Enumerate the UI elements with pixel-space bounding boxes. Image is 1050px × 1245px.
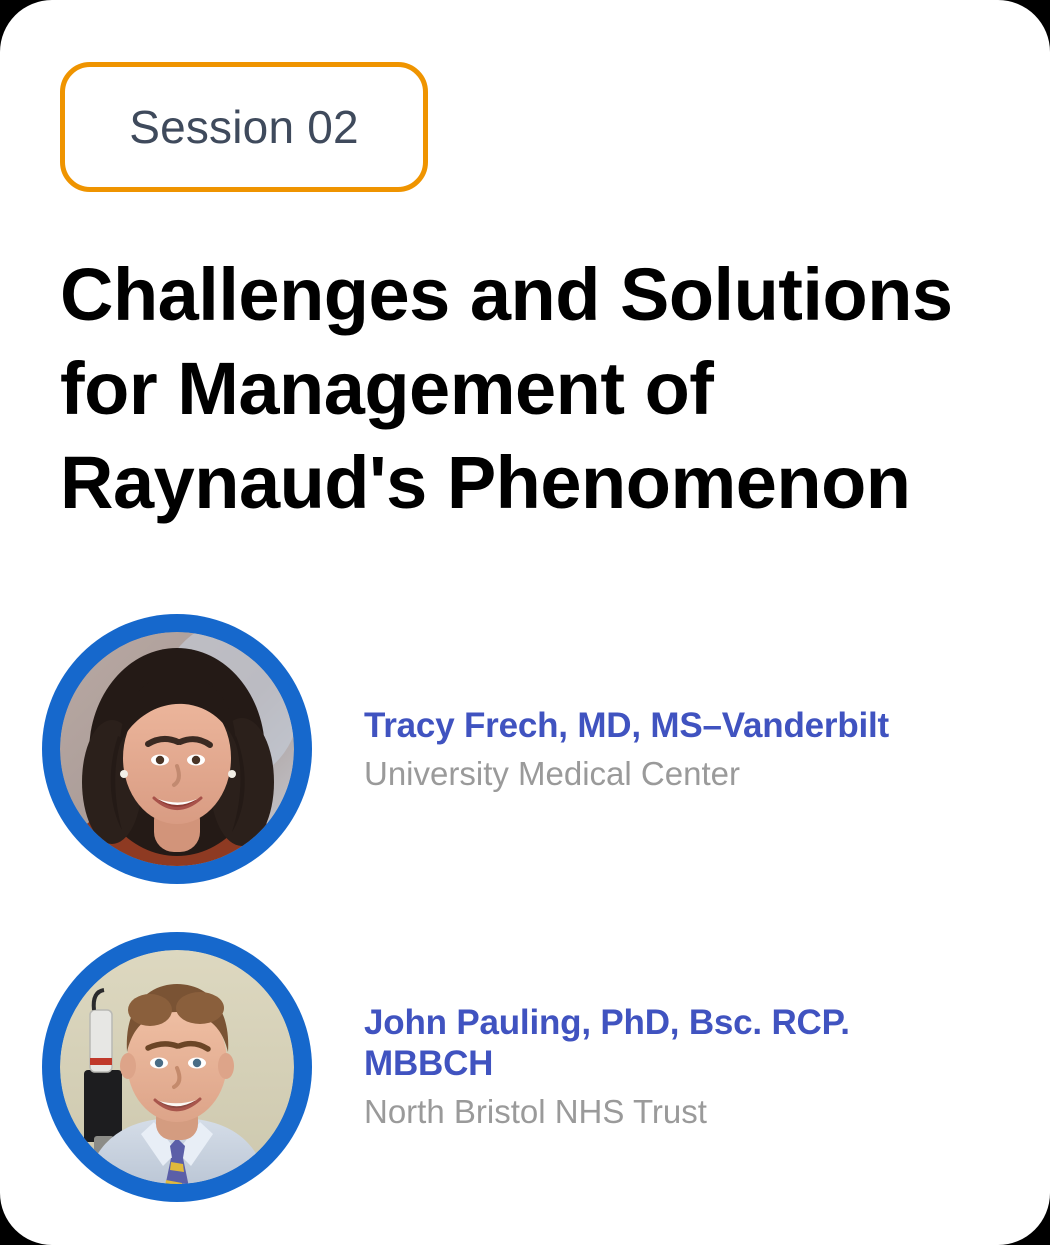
speaker-row[interactable]: Tracy Frech, MD, MS–Vanderbilt Universit… [42,614,1002,884]
avatar-photo-john-pauling [60,950,294,1184]
session-title: Challenges and Solutions for Management … [60,248,960,530]
speaker-text: Tracy Frech, MD, MS–Vanderbilt Universit… [364,705,889,794]
session-badge[interactable]: Session 02 [60,62,428,192]
speaker-text: John Pauling, PhD, Bsc. RCP. MBBCH North… [364,1002,944,1132]
avatar [42,614,312,884]
speaker-row[interactable]: John Pauling, PhD, Bsc. RCP. MBBCH North… [42,932,1002,1202]
speaker-name: Tracy Frech, MD, MS–Vanderbilt [364,705,889,746]
session-badge-container: Session 02 [60,62,428,192]
session-card: Session 02 Challenges and Solutions for … [0,0,1050,1245]
speaker-list: Tracy Frech, MD, MS–Vanderbilt Universit… [42,614,1002,1202]
speaker-affiliation: University Medical Center [364,754,889,794]
speaker-affiliation: North Bristol NHS Trust [364,1092,944,1132]
speaker-name: John Pauling, PhD, Bsc. RCP. MBBCH [364,1002,944,1084]
avatar-photo-tracy-frech [60,632,294,866]
session-badge-label: Session 02 [129,104,359,150]
avatar [42,932,312,1202]
